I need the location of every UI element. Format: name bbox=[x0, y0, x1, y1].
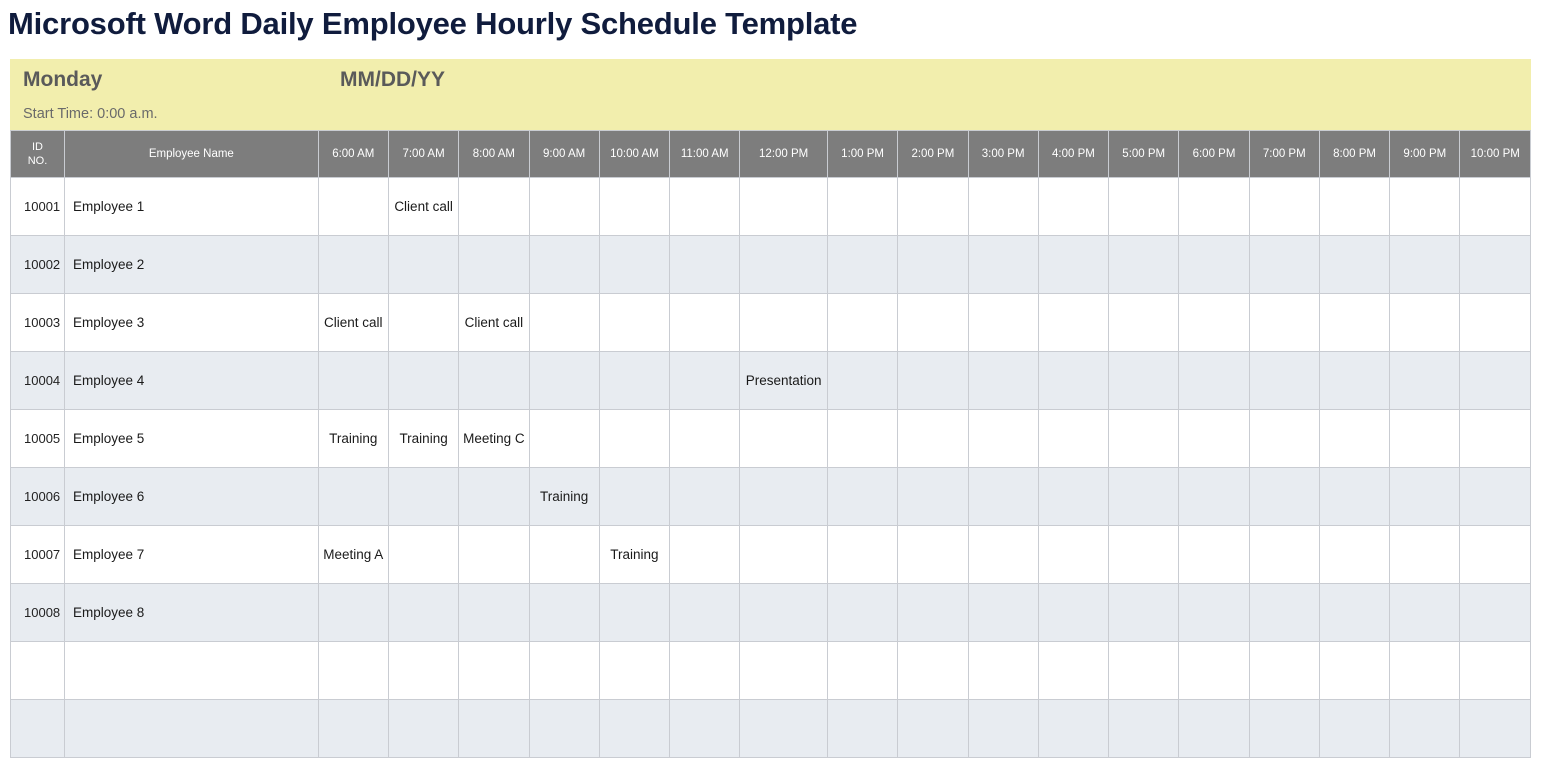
cell-slot-t1400[interactable] bbox=[898, 526, 968, 584]
column-header-id: ID NO. bbox=[11, 131, 65, 178]
cell-slot-t0800[interactable]: Client call bbox=[459, 294, 529, 352]
table-row: 10003Employee 3Client callClient call bbox=[11, 294, 1531, 352]
cell-employee-id[interactable]: 10008 bbox=[11, 584, 65, 642]
cell-slot-t0700[interactable] bbox=[388, 236, 458, 294]
cell-slot-t2100[interactable] bbox=[1390, 468, 1460, 526]
table-row: 10008Employee 8 bbox=[11, 584, 1531, 642]
cell-slot-t1600[interactable] bbox=[1038, 584, 1108, 642]
cell-slot-t0900[interactable] bbox=[529, 236, 599, 294]
cell-slot-t1600[interactable] bbox=[1038, 526, 1108, 584]
column-header-id-line1: ID bbox=[32, 141, 43, 153]
cell-employee-id[interactable]: 10006 bbox=[11, 468, 65, 526]
cell-slot-t2100[interactable] bbox=[1390, 584, 1460, 642]
column-header-t2100: 9:00 PM bbox=[1390, 131, 1460, 178]
cell-slot-t1900[interactable] bbox=[1249, 642, 1319, 700]
column-header-t1500: 3:00 PM bbox=[968, 131, 1038, 178]
cell-slot-t0700[interactable]: Client call bbox=[388, 178, 458, 236]
table-row: 10001Employee 1Client call bbox=[11, 178, 1531, 236]
cell-slot-t1600[interactable] bbox=[1038, 294, 1108, 352]
cell-slot-t2100[interactable] bbox=[1390, 352, 1460, 410]
schedule-table: ID NO. Employee Name 6:00 AM7:00 AM8:00 … bbox=[10, 130, 1531, 758]
cell-slot-t1300[interactable] bbox=[827, 236, 897, 294]
cell-slot-t1100[interactable] bbox=[670, 468, 740, 526]
cell-slot-t1600[interactable] bbox=[1038, 410, 1108, 468]
table-row: 10006Employee 6Training bbox=[11, 468, 1531, 526]
cell-slot-t2200[interactable] bbox=[1460, 584, 1531, 642]
schedule-table-container: ID NO. Employee Name 6:00 AM7:00 AM8:00 … bbox=[10, 130, 1531, 758]
cell-slot-t1700[interactable] bbox=[1109, 468, 1179, 526]
cell-slot-t1600[interactable] bbox=[1038, 700, 1108, 758]
cell-slot-t1900[interactable] bbox=[1249, 526, 1319, 584]
cell-slot-t1400[interactable] bbox=[898, 294, 968, 352]
cell-slot-t0900[interactable] bbox=[529, 294, 599, 352]
cell-slot-t2200[interactable] bbox=[1460, 642, 1531, 700]
cell-slot-t0600[interactable]: Training bbox=[318, 410, 388, 468]
cell-slot-t1900[interactable] bbox=[1249, 236, 1319, 294]
cell-slot-t1100[interactable] bbox=[670, 352, 740, 410]
cell-slot-t1300[interactable] bbox=[827, 468, 897, 526]
cell-slot-t0800[interactable]: Meeting C bbox=[459, 410, 529, 468]
table-header-row: ID NO. Employee Name 6:00 AM7:00 AM8:00 … bbox=[11, 131, 1531, 178]
cell-slot-t0800[interactable] bbox=[459, 352, 529, 410]
column-header-t1800: 6:00 PM bbox=[1179, 131, 1249, 178]
cell-slot-t1100[interactable] bbox=[670, 236, 740, 294]
cell-slot-t0600[interactable] bbox=[318, 178, 388, 236]
cell-slot-t1500[interactable] bbox=[968, 178, 1038, 236]
column-header-t2000: 8:00 PM bbox=[1319, 131, 1389, 178]
cell-slot-t1100[interactable] bbox=[670, 294, 740, 352]
cell-slot-t1500[interactable] bbox=[968, 642, 1038, 700]
cell-slot-t2000[interactable] bbox=[1319, 236, 1389, 294]
cell-slot-t1600[interactable] bbox=[1038, 642, 1108, 700]
cell-slot-t2000[interactable] bbox=[1319, 584, 1389, 642]
table-row bbox=[11, 642, 1531, 700]
column-header-id-line2: NO. bbox=[28, 155, 48, 167]
cell-slot-t1800[interactable] bbox=[1179, 352, 1249, 410]
cell-slot-t1800[interactable] bbox=[1179, 294, 1249, 352]
cell-slot-t1200[interactable] bbox=[740, 178, 828, 236]
cell-slot-t1700[interactable] bbox=[1109, 352, 1179, 410]
table-row: 10004Employee 4Presentation bbox=[11, 352, 1531, 410]
cell-slot-t1700[interactable] bbox=[1109, 410, 1179, 468]
cell-slot-t1200[interactable] bbox=[740, 526, 828, 584]
cell-slot-t1000[interactable] bbox=[599, 352, 669, 410]
start-time-label[interactable]: Start Time: 0:00 a.m. bbox=[23, 106, 158, 122]
cell-slot-t1900[interactable] bbox=[1249, 410, 1319, 468]
cell-slot-t1400[interactable] bbox=[898, 642, 968, 700]
cell-slot-t1200[interactable] bbox=[740, 642, 828, 700]
cell-slot-t2000[interactable] bbox=[1319, 526, 1389, 584]
cell-employee-id[interactable] bbox=[11, 642, 65, 700]
day-header-band: Monday MM/DD/YY Start Time: 0:00 a.m. bbox=[10, 59, 1531, 130]
cell-slot-t1700[interactable] bbox=[1109, 526, 1179, 584]
cell-slot-t1400[interactable] bbox=[898, 584, 968, 642]
cell-slot-t2000[interactable] bbox=[1319, 468, 1389, 526]
cell-slot-t1800[interactable] bbox=[1179, 642, 1249, 700]
table-header: ID NO. Employee Name 6:00 AM7:00 AM8:00 … bbox=[11, 131, 1531, 178]
cell-slot-t2000[interactable] bbox=[1319, 294, 1389, 352]
cell-slot-t0600[interactable]: Client call bbox=[318, 294, 388, 352]
cell-slot-t1000[interactable] bbox=[599, 178, 669, 236]
cell-slot-t0800[interactable] bbox=[459, 642, 529, 700]
cell-slot-t1700[interactable] bbox=[1109, 236, 1179, 294]
cell-slot-t0800[interactable] bbox=[459, 584, 529, 642]
cell-slot-t1400[interactable] bbox=[898, 178, 968, 236]
cell-employee-id[interactable]: 10001 bbox=[11, 178, 65, 236]
cell-slot-t2000[interactable] bbox=[1319, 352, 1389, 410]
cell-slot-t1800[interactable] bbox=[1179, 178, 1249, 236]
cell-slot-t2200[interactable] bbox=[1460, 410, 1531, 468]
cell-slot-t1300[interactable] bbox=[827, 642, 897, 700]
cell-slot-t2200[interactable] bbox=[1460, 526, 1531, 584]
cell-slot-t1100[interactable] bbox=[670, 642, 740, 700]
cell-employee-id[interactable]: 10002 bbox=[11, 236, 65, 294]
cell-slot-t0800[interactable] bbox=[459, 236, 529, 294]
column-header-t1300: 1:00 PM bbox=[827, 131, 897, 178]
day-name-label: Monday bbox=[23, 68, 102, 92]
cell-slot-t1400[interactable] bbox=[898, 468, 968, 526]
cell-employee-name[interactable]: Employee 5 bbox=[64, 410, 318, 468]
cell-employee-name[interactable]: Employee 1 bbox=[64, 178, 318, 236]
cell-employee-id[interactable]: 10005 bbox=[11, 410, 65, 468]
cell-slot-t1200[interactable] bbox=[740, 700, 828, 758]
cell-slot-t1000[interactable] bbox=[599, 468, 669, 526]
cell-slot-t1800[interactable] bbox=[1179, 700, 1249, 758]
cell-slot-t1300[interactable] bbox=[827, 178, 897, 236]
cell-slot-t1300[interactable] bbox=[827, 410, 897, 468]
cell-slot-t1900[interactable] bbox=[1249, 178, 1319, 236]
cell-slot-t0700[interactable] bbox=[388, 584, 458, 642]
cell-slot-t1400[interactable] bbox=[898, 410, 968, 468]
page-title: Microsoft Word Daily Employee Hourly Sch… bbox=[8, 2, 1528, 50]
cell-slot-t1600[interactable] bbox=[1038, 468, 1108, 526]
cell-employee-name[interactable]: Employee 3 bbox=[64, 294, 318, 352]
cell-slot-t1300[interactable] bbox=[827, 700, 897, 758]
table-row: 10002Employee 2 bbox=[11, 236, 1531, 294]
column-header-t0600: 6:00 AM bbox=[318, 131, 388, 178]
cell-slot-t0600[interactable] bbox=[318, 352, 388, 410]
column-header-t1900: 7:00 PM bbox=[1249, 131, 1319, 178]
cell-slot-t1400[interactable] bbox=[898, 352, 968, 410]
cell-slot-t0900[interactable] bbox=[529, 410, 599, 468]
cell-slot-t2100[interactable] bbox=[1390, 526, 1460, 584]
cell-slot-t1100[interactable] bbox=[670, 178, 740, 236]
cell-slot-t1600[interactable] bbox=[1038, 178, 1108, 236]
cell-slot-t0800[interactable] bbox=[459, 468, 529, 526]
cell-slot-t0700[interactable]: Training bbox=[388, 410, 458, 468]
cell-slot-t1600[interactable] bbox=[1038, 352, 1108, 410]
cell-employee-id[interactable]: 10007 bbox=[11, 526, 65, 584]
cell-slot-t0700[interactable] bbox=[388, 468, 458, 526]
cell-slot-t0600[interactable] bbox=[318, 584, 388, 642]
cell-slot-t1500[interactable] bbox=[968, 526, 1038, 584]
cell-slot-t1500[interactable] bbox=[968, 236, 1038, 294]
cell-slot-t2000[interactable] bbox=[1319, 410, 1389, 468]
column-header-t1700: 5:00 PM bbox=[1109, 131, 1179, 178]
cell-slot-t1800[interactable] bbox=[1179, 468, 1249, 526]
cell-slot-t1500[interactable] bbox=[968, 294, 1038, 352]
cell-slot-t1600[interactable] bbox=[1038, 236, 1108, 294]
cell-slot-t1500[interactable] bbox=[968, 700, 1038, 758]
cell-slot-t0600[interactable] bbox=[318, 642, 388, 700]
column-header-t1100: 11:00 AM bbox=[670, 131, 740, 178]
cell-slot-t1500[interactable] bbox=[968, 468, 1038, 526]
cell-slot-t0900[interactable] bbox=[529, 584, 599, 642]
cell-slot-t2200[interactable] bbox=[1460, 468, 1531, 526]
cell-slot-t0900[interactable] bbox=[529, 642, 599, 700]
cell-employee-id[interactable] bbox=[11, 700, 65, 758]
date-field[interactable]: MM/DD/YY bbox=[340, 68, 445, 92]
cell-slot-t1700[interactable] bbox=[1109, 584, 1179, 642]
column-header-t1200: 12:00 PM bbox=[740, 131, 828, 178]
cell-slot-t1900[interactable] bbox=[1249, 294, 1319, 352]
cell-slot-t1000[interactable] bbox=[599, 642, 669, 700]
cell-slot-t2200[interactable] bbox=[1460, 178, 1531, 236]
cell-slot-t2100[interactable] bbox=[1390, 410, 1460, 468]
cell-slot-t1700[interactable] bbox=[1109, 642, 1179, 700]
cell-slot-t1000[interactable] bbox=[599, 410, 669, 468]
column-header-t0700: 7:00 AM bbox=[388, 131, 458, 178]
cell-slot-t1800[interactable] bbox=[1179, 526, 1249, 584]
cell-slot-t0700[interactable] bbox=[388, 642, 458, 700]
cell-slot-t1200[interactable] bbox=[740, 294, 828, 352]
cell-slot-t1700[interactable] bbox=[1109, 700, 1179, 758]
cell-slot-t1500[interactable] bbox=[968, 584, 1038, 642]
cell-slot-t1900[interactable] bbox=[1249, 468, 1319, 526]
table-body: 10001Employee 1Client call10002Employee … bbox=[11, 178, 1531, 758]
cell-slot-t1100[interactable] bbox=[670, 584, 740, 642]
column-header-employee-name: Employee Name bbox=[64, 131, 318, 178]
cell-slot-t0800[interactable] bbox=[459, 700, 529, 758]
cell-slot-t1400[interactable] bbox=[898, 700, 968, 758]
cell-slot-t1900[interactable] bbox=[1249, 700, 1319, 758]
cell-slot-t2000[interactable] bbox=[1319, 178, 1389, 236]
cell-slot-t2000[interactable] bbox=[1319, 700, 1389, 758]
cell-slot-t2200[interactable] bbox=[1460, 236, 1531, 294]
column-header-t0800: 8:00 AM bbox=[459, 131, 529, 178]
cell-slot-t1100[interactable] bbox=[670, 526, 740, 584]
cell-slot-t0800[interactable] bbox=[459, 526, 529, 584]
schedule-page: Microsoft Word Daily Employee Hourly Sch… bbox=[0, 0, 1542, 766]
cell-slot-t0700[interactable] bbox=[388, 352, 458, 410]
cell-slot-t1900[interactable] bbox=[1249, 352, 1319, 410]
column-header-t1000: 10:00 AM bbox=[599, 131, 669, 178]
cell-slot-t0900[interactable] bbox=[529, 178, 599, 236]
cell-slot-t1000[interactable] bbox=[599, 236, 669, 294]
cell-slot-t1200[interactable]: Presentation bbox=[740, 352, 828, 410]
cell-slot-t2100[interactable] bbox=[1390, 178, 1460, 236]
cell-slot-t2100[interactable] bbox=[1390, 642, 1460, 700]
cell-slot-t0600[interactable] bbox=[318, 468, 388, 526]
table-row: 10007Employee 7Meeting ATraining bbox=[11, 526, 1531, 584]
cell-slot-t0900[interactable]: Training bbox=[529, 468, 599, 526]
cell-slot-t2100[interactable] bbox=[1390, 236, 1460, 294]
cell-slot-t1200[interactable] bbox=[740, 468, 828, 526]
cell-employee-name[interactable]: Employee 8 bbox=[64, 584, 318, 642]
cell-slot-t1100[interactable] bbox=[670, 700, 740, 758]
cell-slot-t1000[interactable] bbox=[599, 700, 669, 758]
cell-slot-t1300[interactable] bbox=[827, 526, 897, 584]
cell-slot-t2200[interactable] bbox=[1460, 700, 1531, 758]
column-header-t1400: 2:00 PM bbox=[898, 131, 968, 178]
cell-slot-t0600[interactable]: Meeting A bbox=[318, 526, 388, 584]
cell-slot-t0700[interactable] bbox=[388, 526, 458, 584]
cell-slot-t0600[interactable] bbox=[318, 236, 388, 294]
cell-slot-t1500[interactable] bbox=[968, 410, 1038, 468]
cell-slot-t1300[interactable] bbox=[827, 352, 897, 410]
cell-employee-name[interactable]: Employee 2 bbox=[64, 236, 318, 294]
cell-slot-t1800[interactable] bbox=[1179, 410, 1249, 468]
cell-slot-t2100[interactable] bbox=[1390, 294, 1460, 352]
cell-slot-t1300[interactable] bbox=[827, 584, 897, 642]
cell-slot-t0900[interactable] bbox=[529, 700, 599, 758]
cell-slot-t1200[interactable] bbox=[740, 236, 828, 294]
cell-slot-t1000[interactable]: Training bbox=[599, 526, 669, 584]
cell-slot-t1100[interactable] bbox=[670, 410, 740, 468]
cell-slot-t1200[interactable] bbox=[740, 410, 828, 468]
cell-slot-t1300[interactable] bbox=[827, 294, 897, 352]
column-header-t1600: 4:00 PM bbox=[1038, 131, 1108, 178]
cell-employee-name[interactable]: Employee 7 bbox=[64, 526, 318, 584]
cell-slot-t1500[interactable] bbox=[968, 352, 1038, 410]
cell-slot-t1000[interactable] bbox=[599, 584, 669, 642]
cell-slot-t0600[interactable] bbox=[318, 700, 388, 758]
table-row bbox=[11, 700, 1531, 758]
cell-slot-t2200[interactable] bbox=[1460, 294, 1531, 352]
cell-slot-t0900[interactable] bbox=[529, 526, 599, 584]
cell-slot-t1800[interactable] bbox=[1179, 236, 1249, 294]
cell-slot-t2200[interactable] bbox=[1460, 352, 1531, 410]
cell-slot-t1800[interactable] bbox=[1179, 584, 1249, 642]
cell-slot-t2000[interactable] bbox=[1319, 642, 1389, 700]
table-row: 10005Employee 5TrainingTrainingMeeting C bbox=[11, 410, 1531, 468]
cell-slot-t1700[interactable] bbox=[1109, 294, 1179, 352]
cell-employee-id[interactable]: 10003 bbox=[11, 294, 65, 352]
cell-employee-id[interactable]: 10004 bbox=[11, 352, 65, 410]
cell-employee-name[interactable]: Employee 4 bbox=[64, 352, 318, 410]
cell-employee-name[interactable]: Employee 6 bbox=[64, 468, 318, 526]
column-header-t2200: 10:00 PM bbox=[1460, 131, 1531, 178]
cell-slot-t1400[interactable] bbox=[898, 236, 968, 294]
column-header-t0900: 9:00 AM bbox=[529, 131, 599, 178]
cell-slot-t1900[interactable] bbox=[1249, 584, 1319, 642]
cell-employee-name[interactable] bbox=[64, 642, 318, 700]
cell-slot-t0900[interactable] bbox=[529, 352, 599, 410]
cell-slot-t0700[interactable] bbox=[388, 294, 458, 352]
cell-slot-t1200[interactable] bbox=[740, 584, 828, 642]
cell-slot-t2100[interactable] bbox=[1390, 700, 1460, 758]
cell-employee-name[interactable] bbox=[64, 700, 318, 758]
cell-slot-t1000[interactable] bbox=[599, 294, 669, 352]
cell-slot-t0700[interactable] bbox=[388, 700, 458, 758]
cell-slot-t1700[interactable] bbox=[1109, 178, 1179, 236]
cell-slot-t0800[interactable] bbox=[459, 178, 529, 236]
